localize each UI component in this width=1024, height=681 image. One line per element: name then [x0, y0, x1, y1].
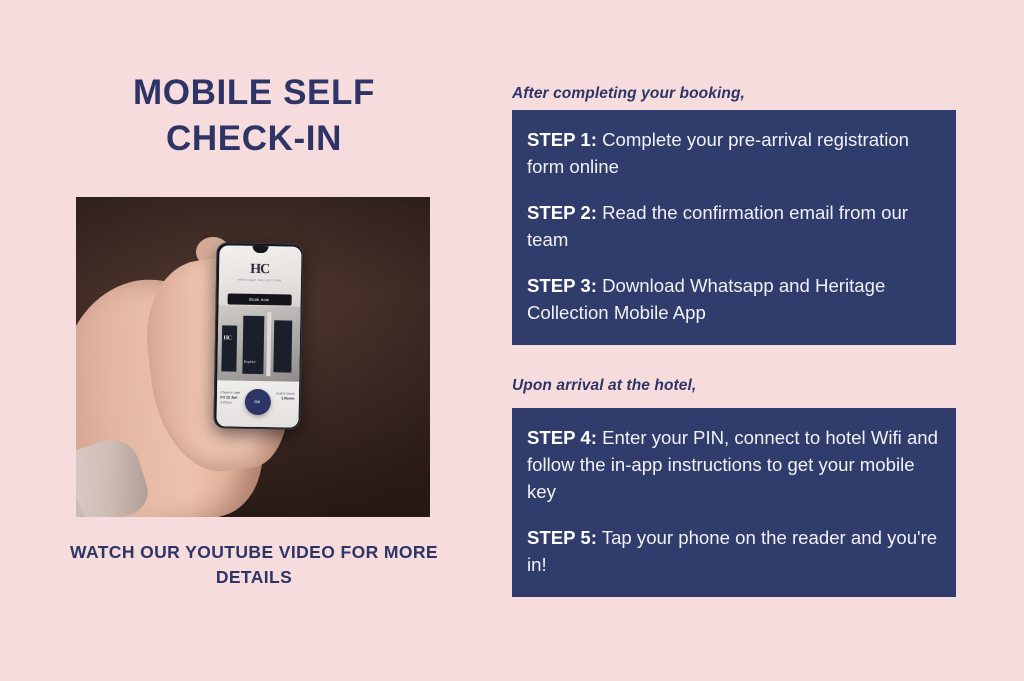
app-image-logo-mark: HC [223, 335, 231, 341]
steps-box-booking: STEP 1: Complete your pre-arrival regist… [512, 110, 956, 345]
app-image-pillar [266, 312, 271, 376]
poster-canvas: MOBILE SELF CHECK-IN HC HERITAGE COLLECT… [0, 0, 1024, 681]
app-footer: Check-in date Fri 12 Jun 3:00 pm Guest r… [216, 380, 299, 427]
step-label: STEP 4: [527, 427, 597, 448]
photo-caption: WATCH OUR YOUTUBE VIDEO FOR MORE DETAILS [40, 540, 468, 590]
step-item: STEP 2: Read the confirmation email from… [527, 199, 942, 253]
app-rooms-value: 1 Room [281, 396, 294, 400]
step-label: STEP 3: [527, 275, 597, 296]
app-go-button[interactable]: Go [244, 388, 270, 414]
app-rooms-label: Guest rooms [276, 391, 294, 395]
right-column: After completing your booking, STEP 1: C… [512, 0, 956, 681]
section-lead-arrival: Upon arrival at the hotel, [512, 377, 696, 395]
app-logo-subtitle: HERITAGE COLLECTION [236, 278, 282, 282]
app-logo-mark: HC [249, 262, 271, 276]
app-book-now-button[interactable]: Book now [227, 293, 291, 305]
section-lead-booking: After completing your booking, [512, 85, 745, 103]
phone-screen: HC HERITAGE COLLECTION Book now HC Explo… [216, 245, 301, 427]
app-image-panel [242, 315, 264, 373]
app-checkin-label: Check-in date [220, 390, 240, 394]
steps-box-arrival: STEP 4: Enter your PIN, connect to hotel… [512, 408, 956, 597]
app-rooms-meta: Guest rooms 1 Room [270, 391, 294, 401]
app-image-panel [221, 325, 237, 371]
step-item: STEP 5: Tap your phone on the reader and… [527, 524, 942, 578]
hero-photo: HC HERITAGE COLLECTION Book now HC Explo… [76, 197, 430, 517]
step-label: STEP 1: [527, 129, 597, 150]
app-checkin-meta: Check-in date Fri 12 Jun 3:00 pm [220, 390, 244, 405]
smartphone-device: HC HERITAGE COLLECTION Book now HC Explo… [213, 242, 303, 429]
step-label: STEP 5: [527, 527, 597, 548]
step-item: STEP 1: Complete your pre-arrival regist… [527, 126, 942, 180]
left-column: MOBILE SELF CHECK-IN HC HERITAGE COLLECT… [40, 70, 468, 615]
app-hero-image: HC Explore [217, 305, 300, 382]
step-label: STEP 2: [527, 202, 597, 223]
page-title: MOBILE SELF CHECK-IN [40, 70, 468, 162]
step-item: STEP 4: Enter your PIN, connect to hotel… [527, 424, 942, 505]
app-image-panel [273, 320, 292, 372]
app-image-caption: Explore [244, 359, 256, 363]
app-checkin-time: 3:00 pm [220, 400, 232, 404]
step-item: STEP 3: Download Whatsapp and Heritage C… [527, 272, 942, 326]
app-checkin-date: Fri 12 Jun [220, 395, 237, 399]
